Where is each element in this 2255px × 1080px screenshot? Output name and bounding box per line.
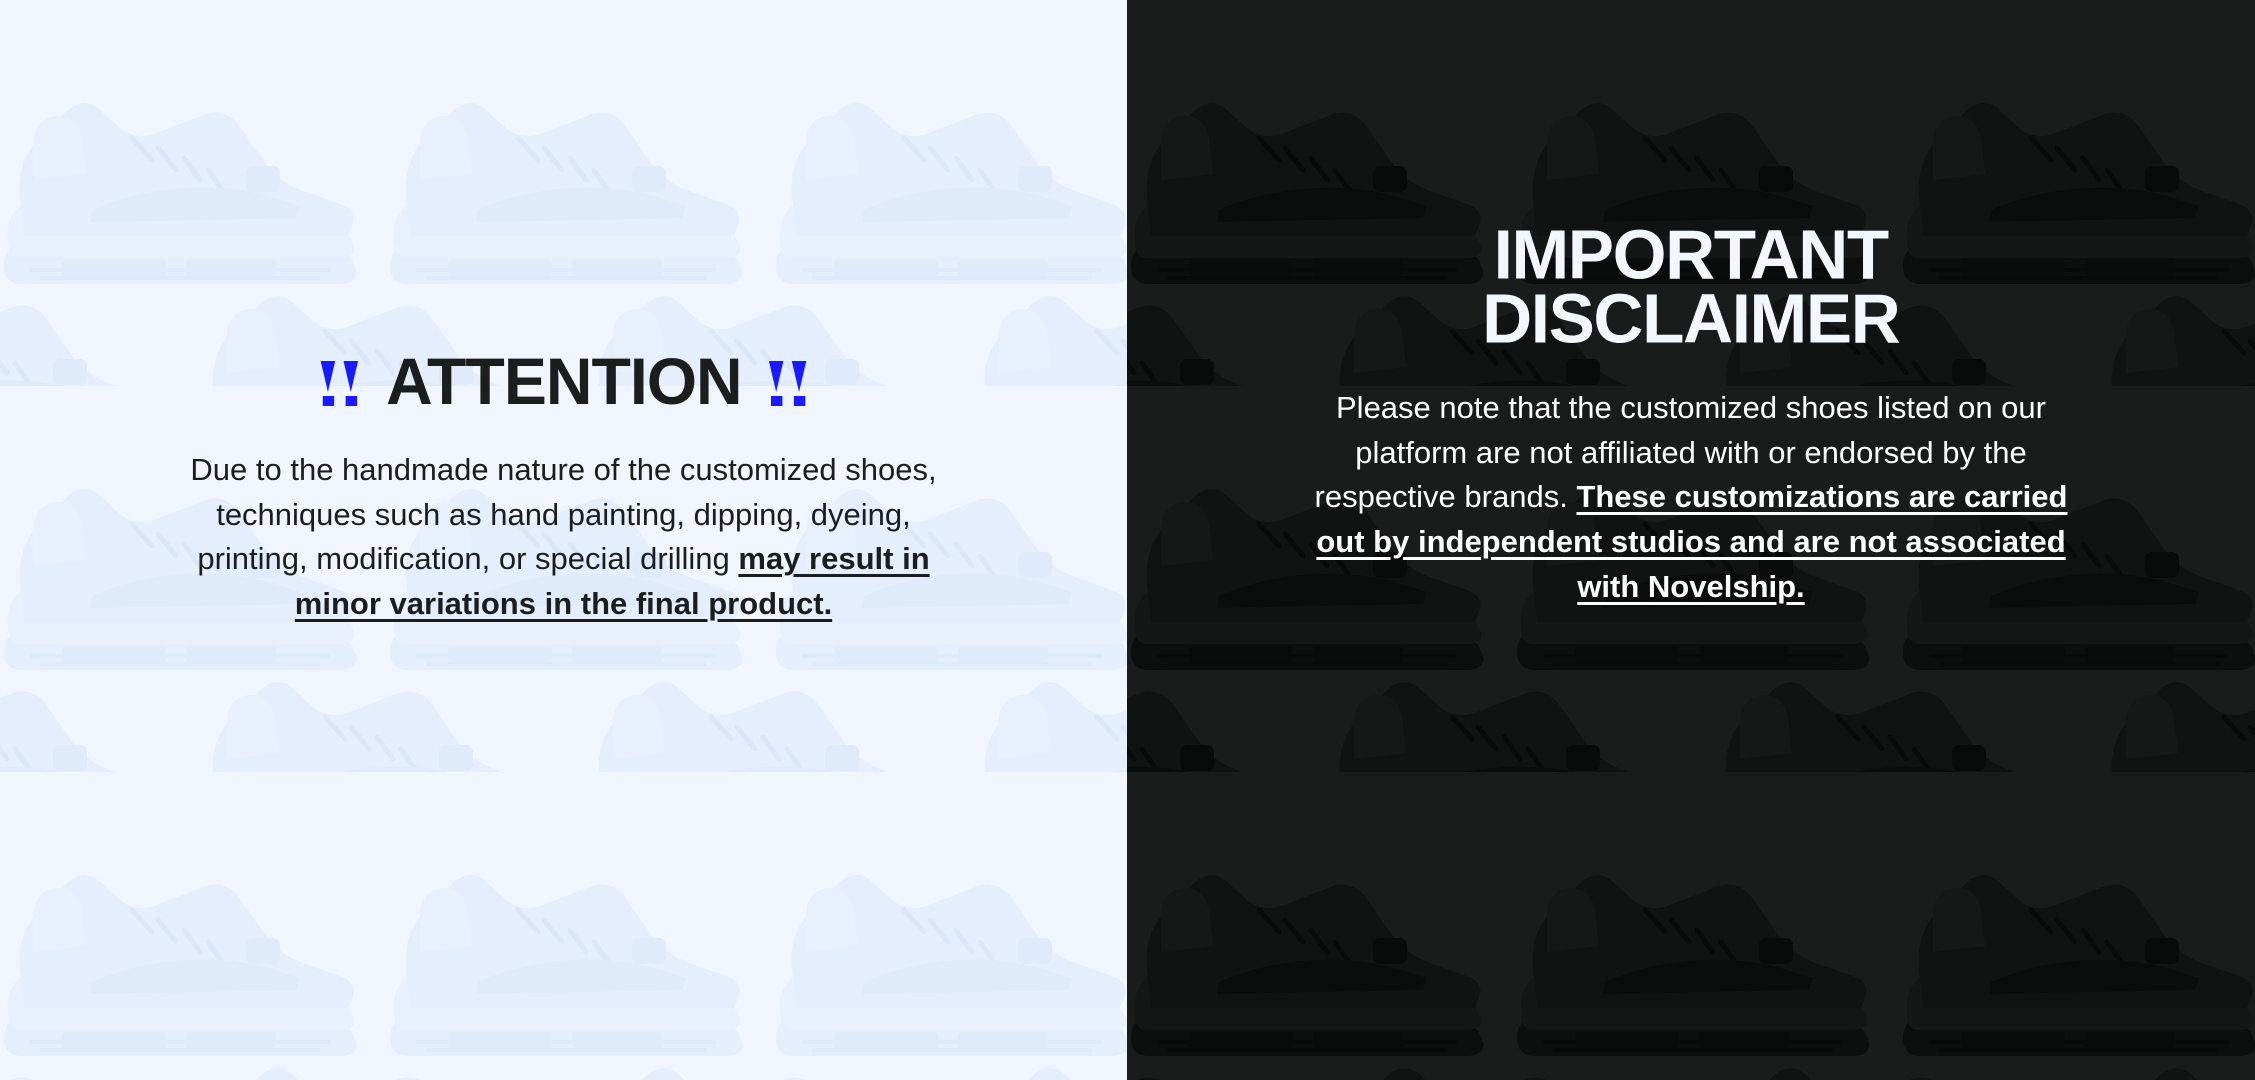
double-exclamation-mark-icon: [768, 361, 806, 406]
attention-heading: ATTENTION: [320, 352, 806, 414]
disclaimer-heading-line1: IMPORTANT: [1494, 220, 1888, 288]
attention-content: ATTENTION Due to the handmade nature of …: [0, 0, 1127, 627]
disclaimer-heading-line2: DISCLAIMER: [1482, 284, 1899, 352]
double-exclamation-mark-icon: [320, 361, 358, 406]
disclaimer-heading: IMPORTANT DISCLAIMER: [1482, 222, 1899, 350]
disclaimer-content: IMPORTANT DISCLAIMER Please note that th…: [1127, 0, 2255, 609]
attention-panel: ATTENTION Due to the handmade nature of …: [0, 0, 1127, 1080]
customization-notice-banner: ATTENTION Due to the handmade nature of …: [0, 0, 2255, 1080]
attention-body: Due to the handmade nature of the custom…: [169, 448, 959, 627]
disclaimer-body: Please note that the customized shoes li…: [1291, 386, 2091, 609]
disclaimer-panel: IMPORTANT DISCLAIMER Please note that th…: [1127, 0, 2255, 1080]
attention-heading-text: ATTENTION: [386, 350, 741, 416]
